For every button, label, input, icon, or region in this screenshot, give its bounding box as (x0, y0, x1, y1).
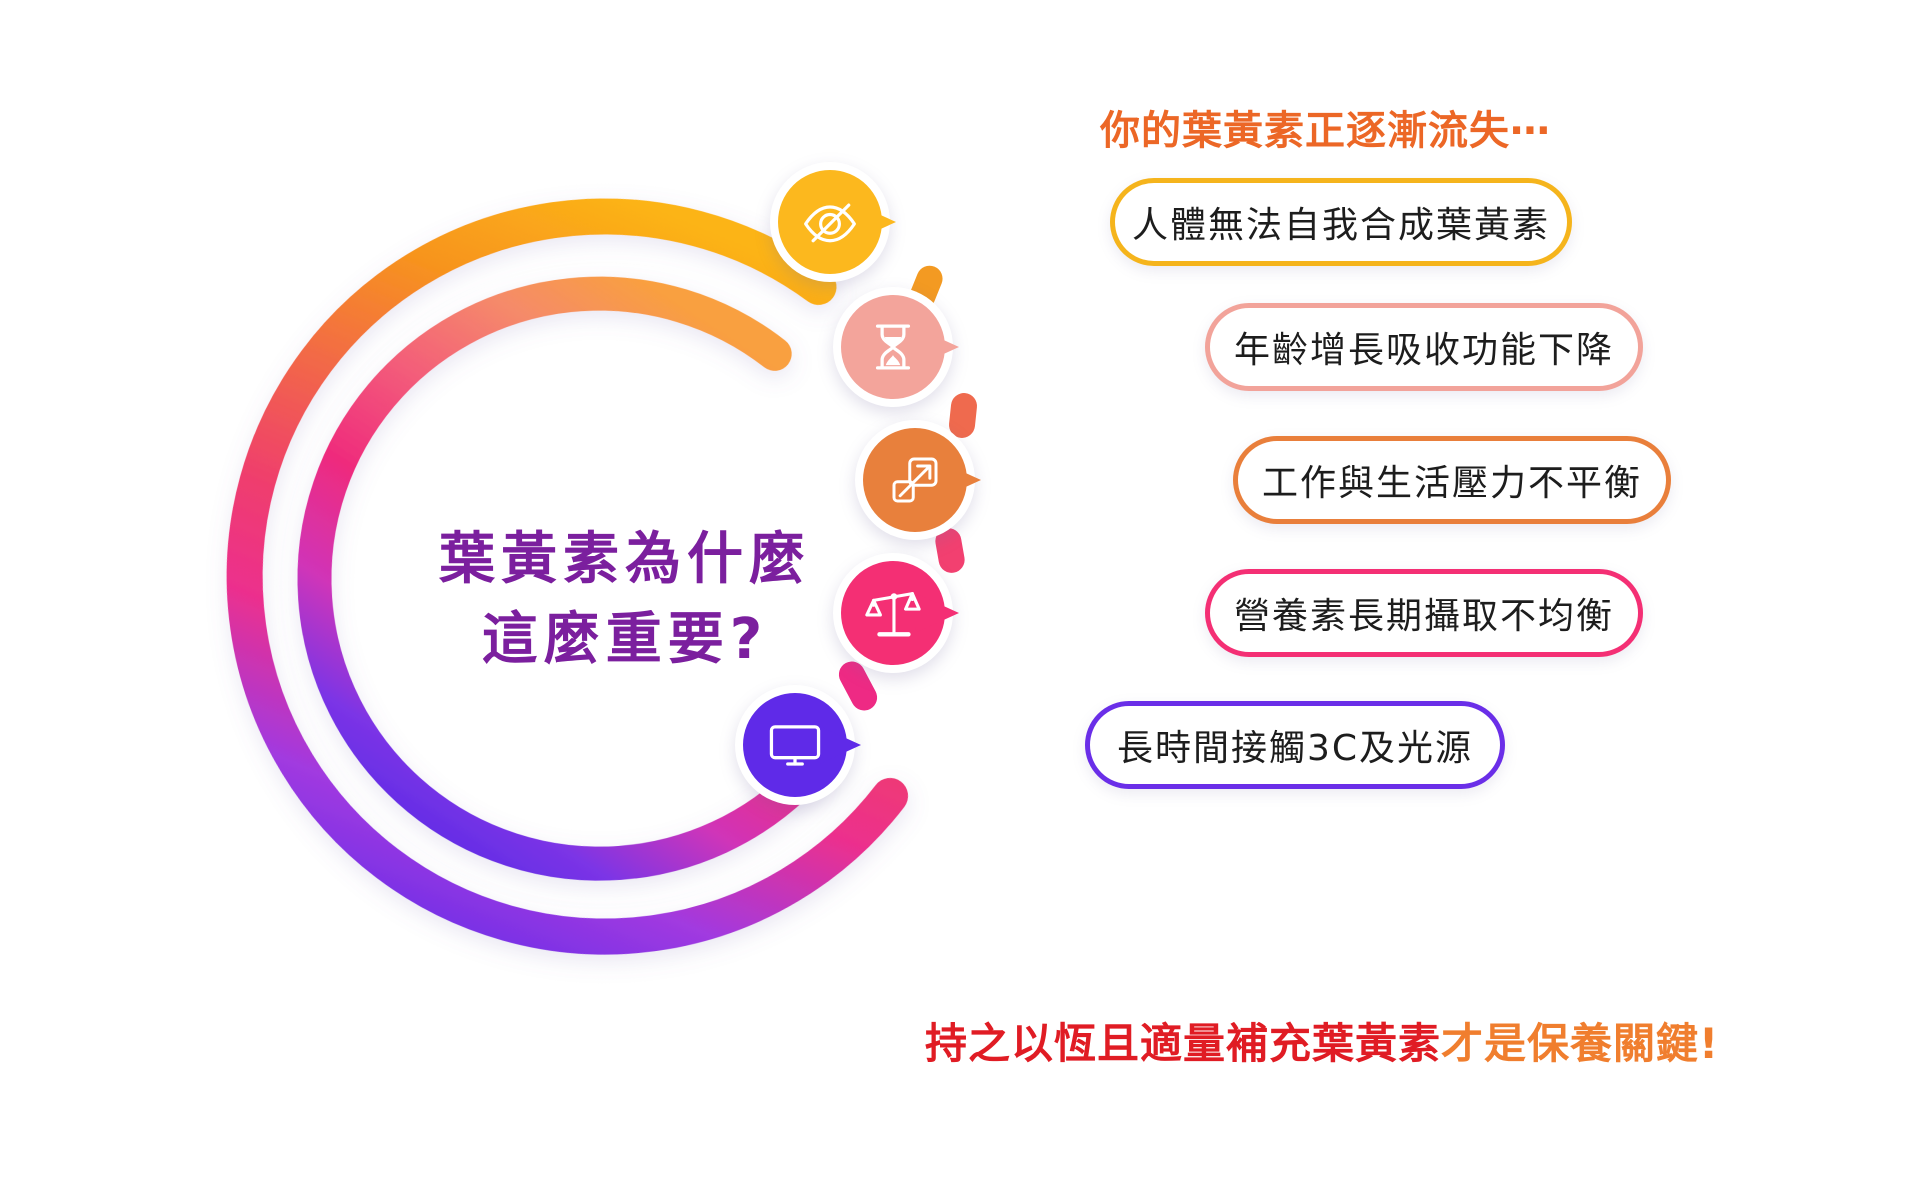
factor-item: 長時間接觸3C及光源 (735, 685, 1505, 805)
factor-bubble[interactable]: 人體無法自我合成葉黃素 (1110, 178, 1572, 266)
top-caption: 你的葉黃素正逐漸流失⋯ (1100, 98, 1551, 156)
factor-item: 年齡增長吸收功能下降 (833, 287, 1643, 407)
hourglass-icon (841, 295, 945, 399)
infographic-canvas: 葉黃素為什麼 這麼重要? 你的葉黃素正逐漸流失⋯ 人體無法自我合成葉黃素 (0, 0, 1920, 1195)
factor-label: 長時間接觸3C及光源 (1117, 719, 1473, 771)
factor-label: 人體無法自我合成葉黃素 (1132, 196, 1550, 248)
icon-badge[interactable] (833, 287, 953, 407)
eye-slash-icon (778, 170, 882, 274)
bottom-caption-strong: 持之以恆且適量補充葉黃素 (925, 1019, 1441, 1068)
factor-bubble[interactable]: 工作與生活壓力不平衡 (1233, 436, 1671, 524)
factor-bubble[interactable]: 年齡增長吸收功能下降 (1205, 303, 1643, 391)
bottom-caption: 持之以恆且適量補充葉黃素才是保養關鍵! (925, 1010, 1719, 1071)
factor-item: 人體無法自我合成葉黃素 (770, 162, 1572, 282)
factor-label: 年齡增長吸收功能下降 (1234, 321, 1614, 373)
factor-item: 營養素長期攝取不均衡 (833, 553, 1643, 673)
monitor-icon (743, 693, 847, 797)
balance-scale-icon (841, 561, 945, 665)
icon-badge[interactable] (833, 553, 953, 673)
icon-badge[interactable] (770, 162, 890, 282)
factor-bubble[interactable]: 營養素長期攝取不均衡 (1205, 569, 1643, 657)
factor-item: 工作與生活壓力不平衡 (855, 420, 1671, 540)
factor-bubble[interactable]: 長時間接觸3C及光源 (1085, 701, 1505, 789)
icon-badge[interactable] (735, 685, 855, 805)
icon-badge[interactable] (855, 420, 975, 540)
center-heading-line1: 葉黃素為什麼 (439, 527, 811, 592)
bottom-caption-soft: 才是保養關鍵! (1441, 1019, 1719, 1068)
factor-label: 工作與生活壓力不平衡 (1262, 454, 1642, 506)
expand-arrow-icon (863, 428, 967, 532)
factor-label: 營養素長期攝取不均衡 (1234, 587, 1614, 639)
